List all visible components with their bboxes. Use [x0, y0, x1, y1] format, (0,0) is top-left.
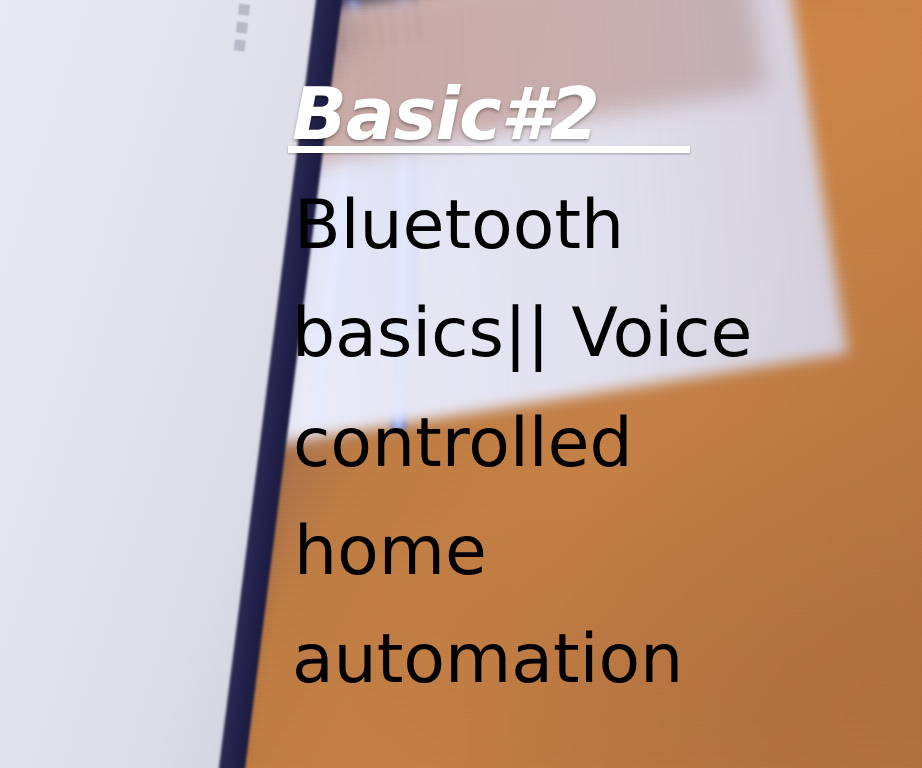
overlay-heading-underline: [288, 146, 690, 153]
overlay-heading: Basic#2: [292, 78, 599, 150]
thumbnail-canvas: obots ! ot Basic#2 Bluetooth basics|| Vo…: [0, 0, 922, 768]
title-overlay: Basic#2 Bluetooth basics|| Voice control…: [0, 0, 922, 768]
overlay-line-2: basics|| Voice: [292, 300, 752, 368]
overlay-line-4: home: [294, 518, 487, 586]
overlay-line-3: controlled: [293, 410, 633, 478]
overlay-line-1: Bluetooth: [294, 192, 624, 260]
overlay-line-5: automation: [292, 626, 683, 694]
